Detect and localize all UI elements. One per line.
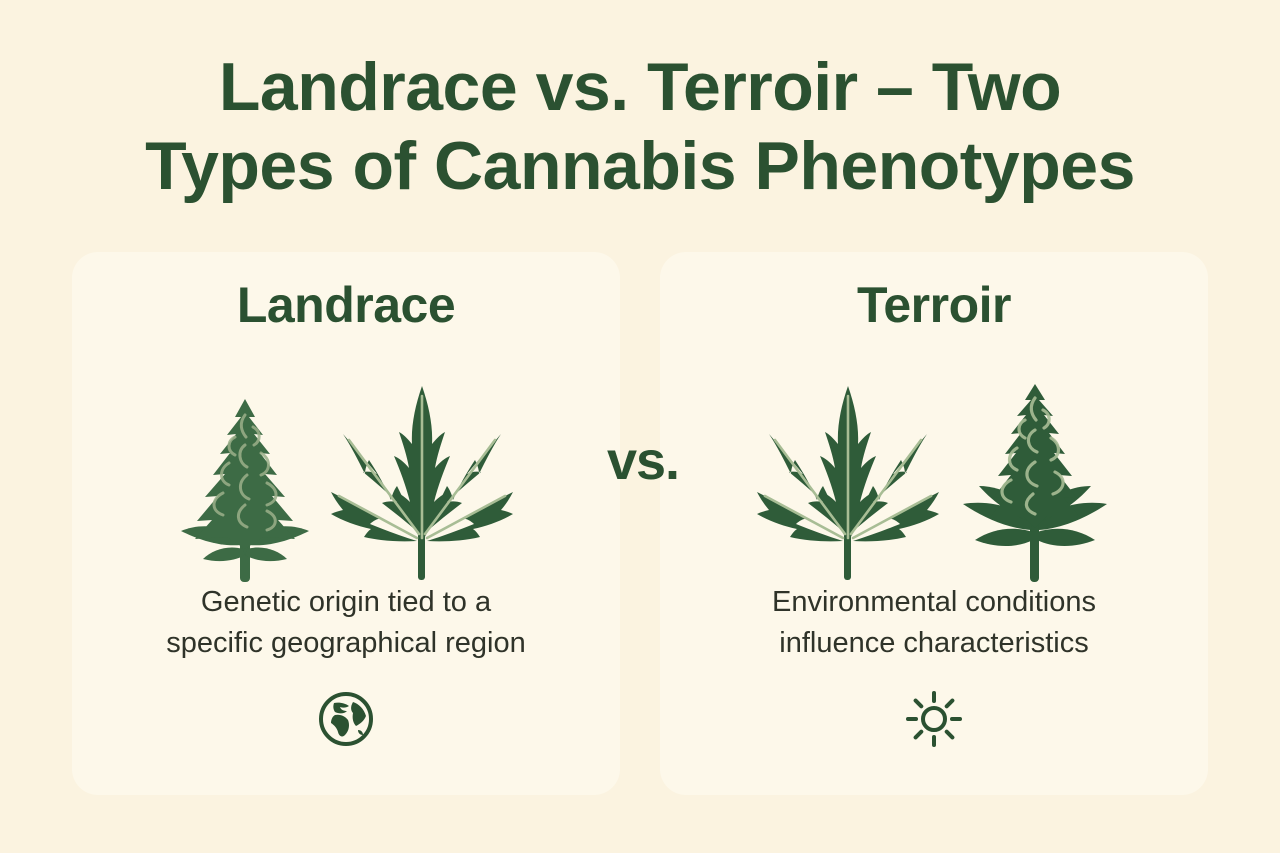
card-landrace-illustrations <box>72 352 620 582</box>
card-landrace-description: Genetic origin tied to a specific geogra… <box>96 582 596 664</box>
card-landrace-heading: Landrace <box>72 276 620 334</box>
card-landrace-description-line-1: Genetic origin tied to a <box>201 586 491 618</box>
card-terroir-badge <box>660 690 1208 753</box>
card-landrace-description-line-2: specific geographical region <box>166 627 526 659</box>
cannabis-plant-icon <box>955 382 1115 582</box>
vs-divider-label: vs. <box>596 430 690 492</box>
card-terroir-heading: Terroir <box>660 276 1208 334</box>
card-landrace: Landrace <box>72 252 620 795</box>
card-landrace-badge <box>72 690 620 753</box>
card-terroir-illustrations <box>660 352 1208 582</box>
card-terroir-description: Environmental conditions influence chara… <box>684 582 1184 664</box>
globe-icon <box>317 690 375 753</box>
page-title: Landrace vs. Terroir – Two Types of Cann… <box>60 48 1220 206</box>
card-terroir-description-line-2: influence characteristics <box>779 627 1088 659</box>
card-terroir-description-line-1: Environmental conditions <box>772 586 1096 618</box>
card-terroir: Terroir <box>660 252 1208 795</box>
page-title-line-2: Types of Cannabis Phenotypes <box>60 127 1220 206</box>
page-title-line-1: Landrace vs. Terroir – Two <box>60 48 1220 127</box>
infographic-canvas: Landrace vs. Terroir – Two Types of Cann… <box>0 0 1280 853</box>
sun-icon <box>905 690 963 753</box>
cannabis-leaf-icon <box>327 382 517 582</box>
cannabis-leaf-icon <box>753 382 943 582</box>
cannabis-bud-icon <box>175 397 315 582</box>
